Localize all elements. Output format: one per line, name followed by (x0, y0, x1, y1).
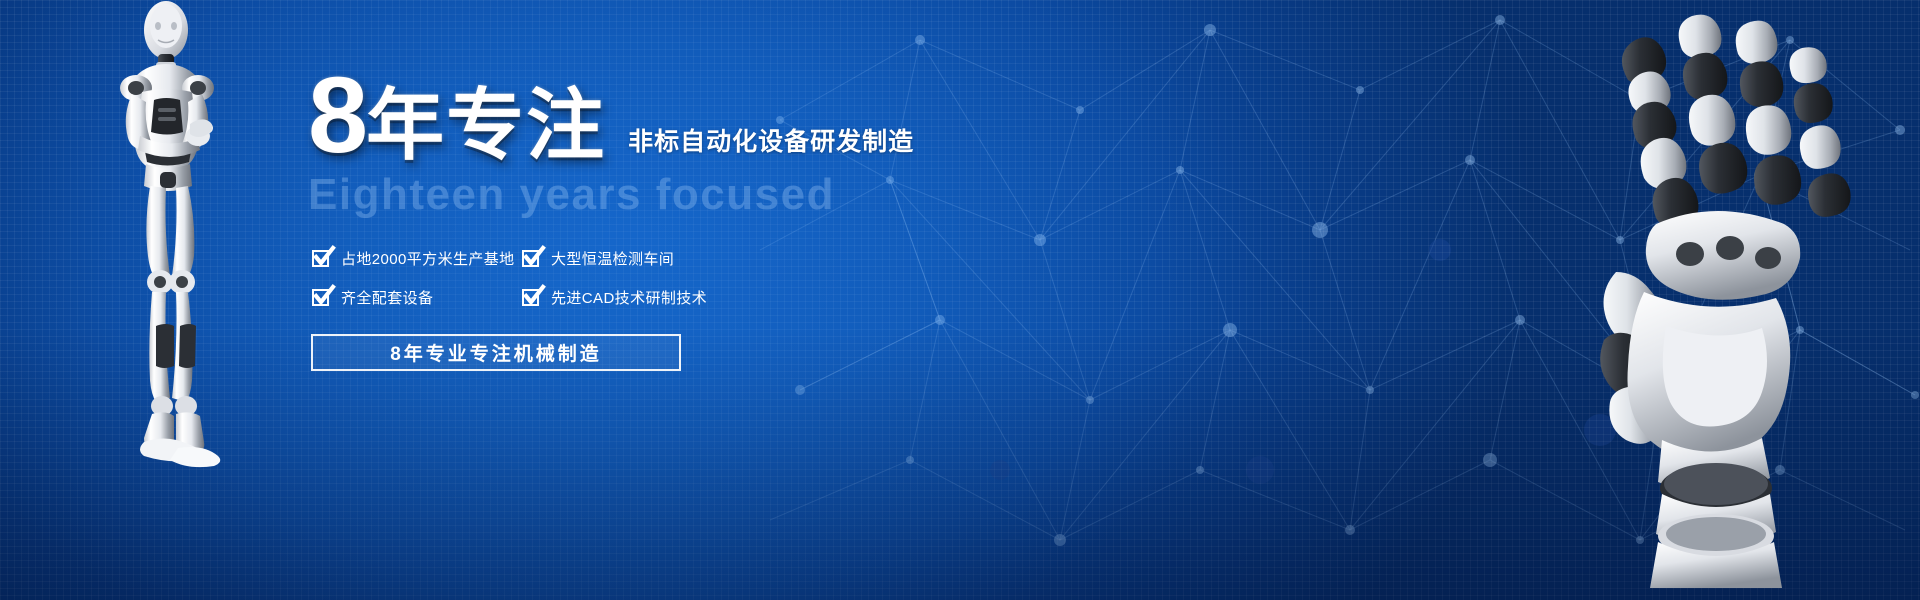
hero-banner: 8年专注 非标自动化设备研发制造 Eighteen years focused … (0, 0, 1920, 600)
headline-row: 8年专注 非标自动化设备研发制造 (308, 72, 1028, 164)
check-icon (312, 250, 329, 267)
feature-label: 占地2000平方米生产基地 (341, 248, 515, 269)
robotic-hand (1570, 10, 1900, 590)
page-title: 8年专注 (308, 65, 606, 164)
humanoid-robot-figure (70, 0, 270, 496)
list-item: 先进CAD技术研制技术 (522, 287, 1028, 308)
cta-label: 8年专业专注机械制造 (390, 339, 602, 366)
banner-content: 8年专注 非标自动化设备研发制造 Eighteen years focused … (308, 72, 1028, 371)
feature-label: 先进CAD技术研制技术 (551, 287, 707, 308)
feature-list: 占地2000平方米生产基地 大型恒温检测车间 齐全配套设备 先进CAD技术研制技… (312, 248, 1028, 308)
check-icon (522, 289, 539, 306)
feature-label: 大型恒温检测车间 (551, 248, 674, 269)
headline-number: 8 (308, 54, 366, 175)
list-item: 占地2000平方米生产基地 (312, 248, 522, 269)
list-item: 齐全配套设备 (312, 287, 522, 308)
list-item: 大型恒温检测车间 (522, 248, 1028, 269)
check-icon (522, 250, 539, 267)
check-icon (312, 289, 329, 306)
headline-cn: 年专注 (366, 81, 606, 169)
feature-label: 齐全配套设备 (341, 287, 433, 308)
headline-subtitle-cn: 非标自动化设备研发制造 (628, 122, 914, 164)
headline-english-ghost: Eighteen years focused (308, 170, 1028, 220)
cta-banner-box[interactable]: 8年专业专注机械制造 (311, 334, 681, 371)
